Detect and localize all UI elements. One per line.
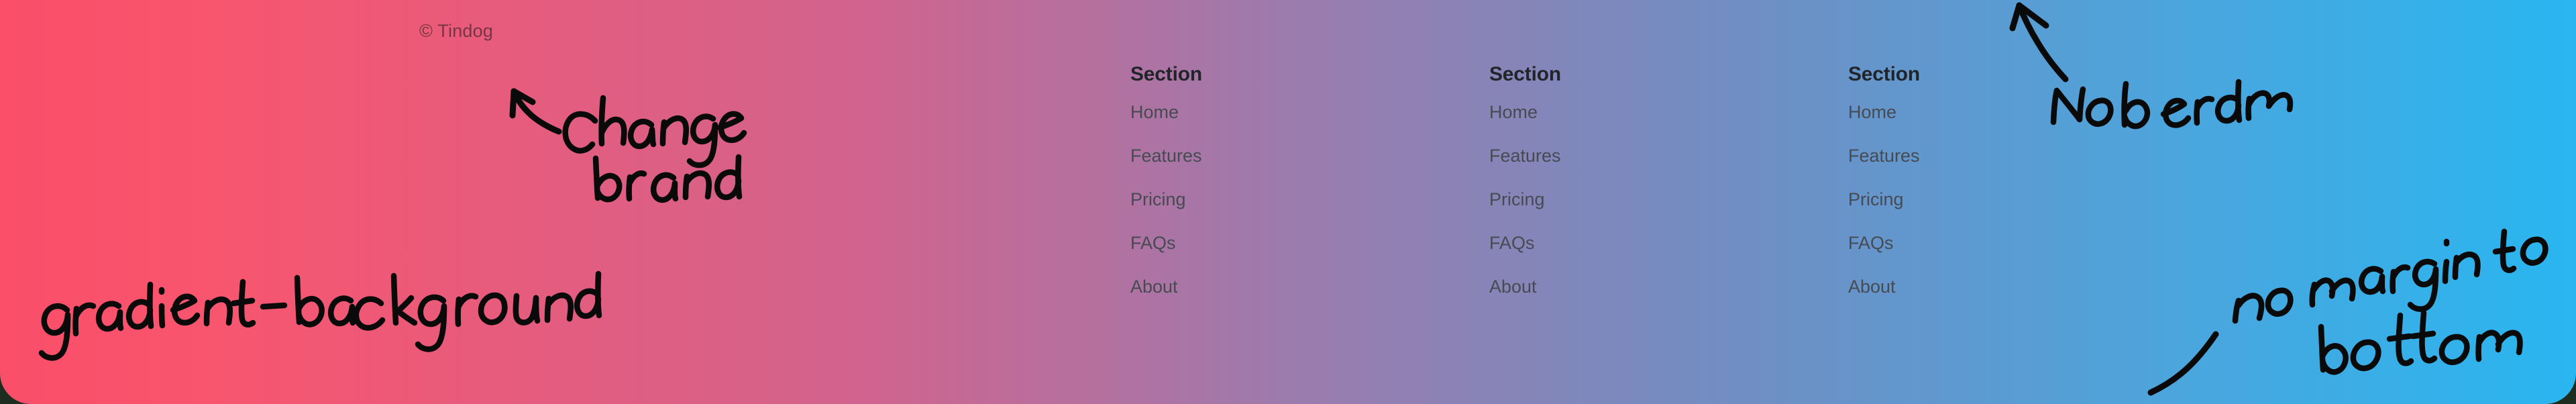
footer-link-faqs[interactable]: FAQs xyxy=(1489,234,1535,252)
column-link-list: Home Features Pricing FAQs About xyxy=(1848,103,2106,296)
list-item[interactable]: FAQs xyxy=(1489,234,1748,252)
column-heading: Section xyxy=(1848,64,2106,85)
list-item[interactable]: Pricing xyxy=(1130,191,1389,209)
list-item[interactable]: Home xyxy=(1489,103,1748,121)
footer-link-faqs[interactable]: FAQs xyxy=(1848,234,1894,252)
footer-link-about[interactable]: About xyxy=(1489,278,1537,296)
list-item[interactable]: Features xyxy=(1848,147,2106,165)
footer-link-about[interactable]: About xyxy=(1130,278,1178,296)
list-item[interactable]: Pricing xyxy=(1848,191,2106,209)
list-item[interactable]: Home xyxy=(1130,103,1389,121)
list-item[interactable]: FAQs xyxy=(1130,234,1389,252)
list-item[interactable]: About xyxy=(1489,278,1748,296)
footer-link-home[interactable]: Home xyxy=(1489,103,1538,121)
footer-link-features[interactable]: Features xyxy=(1130,147,1202,165)
list-item[interactable]: Pricing xyxy=(1489,191,1748,209)
list-item[interactable]: About xyxy=(1848,278,2106,296)
footer-link-about[interactable]: About xyxy=(1848,278,1896,296)
footer-link-pricing[interactable]: Pricing xyxy=(1848,191,1904,209)
column-link-list: Home Features Pricing FAQs About xyxy=(1130,103,1389,296)
footer-brand-block: © Tindog xyxy=(419,22,493,40)
column-link-list: Home Features Pricing FAQs About xyxy=(1489,103,1748,296)
list-item[interactable]: FAQs xyxy=(1848,234,2106,252)
footer-column-1: Section Home Features Pricing FAQs About xyxy=(1130,64,1389,296)
list-item[interactable]: About xyxy=(1130,278,1389,296)
footer-column-3: Section Home Features Pricing FAQs About xyxy=(1848,64,2106,296)
column-heading: Section xyxy=(1489,64,1748,85)
footer-column-2: Section Home Features Pricing FAQs About xyxy=(1489,64,1748,296)
footer-link-features[interactable]: Features xyxy=(1848,147,1920,165)
list-item[interactable]: Features xyxy=(1130,147,1389,165)
footer-link-pricing[interactable]: Pricing xyxy=(1489,191,1545,209)
list-item[interactable]: Home xyxy=(1848,103,2106,121)
footer-link-home[interactable]: Home xyxy=(1848,103,1896,121)
footer-mockup-root: © Tindog Section Home Features Pricing F… xyxy=(0,0,2576,404)
copyright-text: © Tindog xyxy=(419,22,493,40)
footer-link-home[interactable]: Home xyxy=(1130,103,1179,121)
gradient-background-panel: © Tindog Section Home Features Pricing F… xyxy=(0,0,2576,404)
column-heading: Section xyxy=(1130,64,1389,85)
footer-link-columns: Section Home Features Pricing FAQs About… xyxy=(1130,64,2106,296)
footer-link-features[interactable]: Features xyxy=(1489,147,1561,165)
footer-link-faqs[interactable]: FAQs xyxy=(1130,234,1176,252)
footer-link-pricing[interactable]: Pricing xyxy=(1130,191,1186,209)
list-item[interactable]: Features xyxy=(1489,147,1748,165)
